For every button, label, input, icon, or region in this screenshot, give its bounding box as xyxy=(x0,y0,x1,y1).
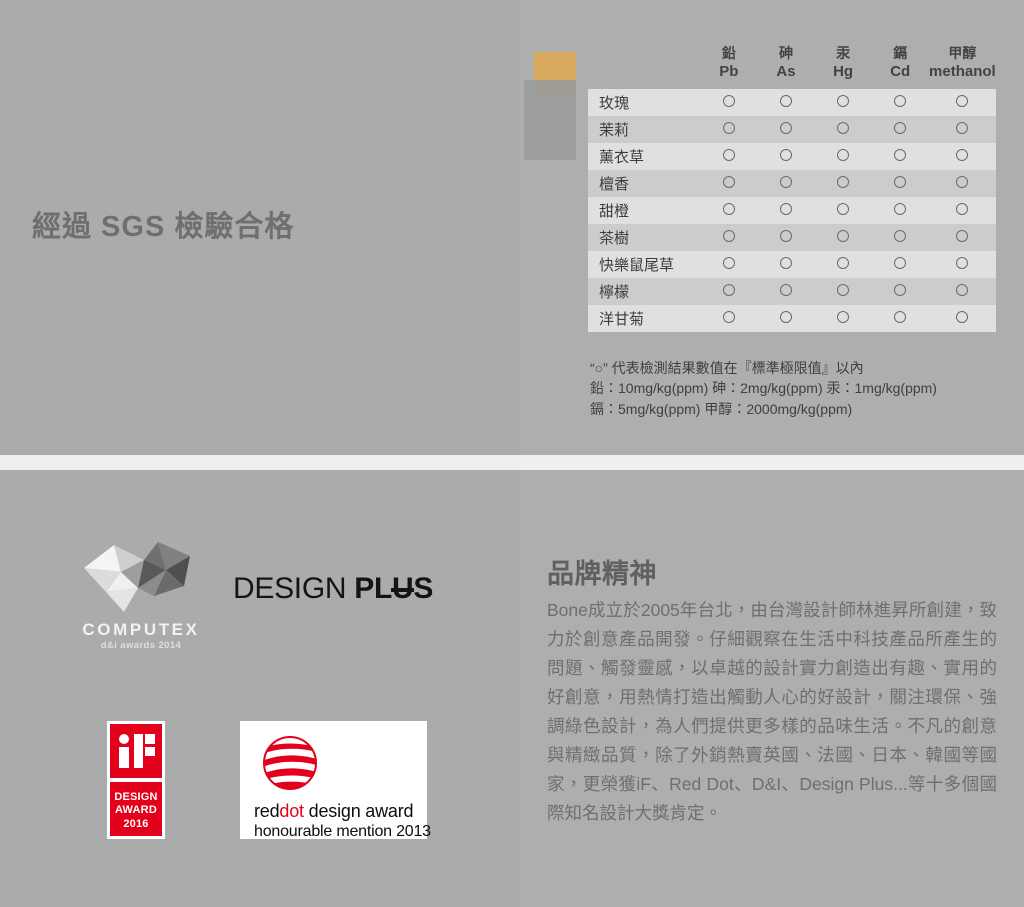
computex-subtitle: d&i awards 2014 xyxy=(66,640,216,651)
cell-pb xyxy=(700,224,757,251)
cell-hg xyxy=(815,89,872,116)
pass-circle-icon xyxy=(723,122,735,134)
if-f-mid-arm xyxy=(145,747,155,756)
column-header-hg-en: Hg xyxy=(815,63,872,82)
if-i-dot xyxy=(119,734,129,744)
cell-hg xyxy=(815,305,872,332)
if-monogram-icon xyxy=(119,734,155,768)
design-plus-design-word: DESIGN xyxy=(233,572,346,605)
table-row: 檸檬 xyxy=(588,278,996,305)
cell-as xyxy=(757,170,814,197)
cell-pb xyxy=(700,197,757,224)
column-header-hg-cn: 汞 xyxy=(815,45,872,63)
pass-circle-icon xyxy=(780,257,792,269)
cell-methanol xyxy=(929,278,996,305)
cell-as xyxy=(757,224,814,251)
cell-pb xyxy=(700,170,757,197)
table-row: 快樂鼠尾草 xyxy=(588,251,996,278)
column-header-methanol-en: methanol xyxy=(929,63,996,82)
pass-circle-icon xyxy=(723,284,735,296)
sgs-test-table: 鉛 Pb 砷 As 汞 Hg 鎘 Cd xyxy=(588,45,996,332)
computex-award-logo: COMPUTEX d&i awards 2014 xyxy=(66,530,216,650)
sgs-note: “○” 代表檢測結果數值在『標準極限值』以內 鉛：10mg/kg(ppm) 砷：… xyxy=(590,358,1010,419)
pass-circle-icon xyxy=(780,230,792,242)
pass-circle-icon xyxy=(837,311,849,323)
pass-circle-icon xyxy=(723,149,735,161)
brand-spirit-title: 品牌精神 xyxy=(547,552,657,591)
pass-circle-icon xyxy=(780,311,792,323)
column-header-pb-cn: 鉛 xyxy=(700,45,757,63)
table-row: 檀香 xyxy=(588,170,996,197)
cell-hg xyxy=(815,278,872,305)
cell-as xyxy=(757,278,814,305)
cell-pb xyxy=(700,251,757,278)
cell-as xyxy=(757,305,814,332)
table-row: 玫瑰 xyxy=(588,89,996,116)
table-header-row: 鉛 Pb 砷 As 汞 Hg 鎘 Cd xyxy=(588,45,996,89)
if-mark-panel xyxy=(110,724,162,778)
cell-as xyxy=(757,116,814,143)
row-label: 快樂鼠尾草 xyxy=(588,251,700,278)
reddot-sphere-icon xyxy=(262,735,318,791)
if-i-stem xyxy=(119,747,129,768)
cell-hg xyxy=(815,143,872,170)
pass-circle-icon xyxy=(956,311,968,323)
if-caption-line2: AWARD xyxy=(110,804,162,817)
cell-pb xyxy=(700,278,757,305)
pass-circle-icon xyxy=(837,203,849,215)
pass-circle-icon xyxy=(780,176,792,188)
computex-wordmark: COMPUTEX xyxy=(66,620,216,640)
column-header-cd: 鎘 Cd xyxy=(872,45,929,89)
if-f-stem xyxy=(134,734,143,768)
cell-pb xyxy=(700,143,757,170)
pass-circle-icon xyxy=(894,311,906,323)
pass-circle-icon xyxy=(780,122,792,134)
pass-circle-icon xyxy=(723,230,735,242)
pass-circle-icon xyxy=(780,149,792,161)
pass-circle-icon xyxy=(723,203,735,215)
pass-circle-icon xyxy=(837,176,849,188)
pass-circle-icon xyxy=(956,95,968,107)
pass-circle-icon xyxy=(894,176,906,188)
column-header-as-cn: 砷 xyxy=(757,45,814,63)
column-header-name xyxy=(588,45,700,89)
pass-circle-icon xyxy=(723,176,735,188)
cell-methanol xyxy=(929,89,996,116)
table-row: 茶樹 xyxy=(588,224,996,251)
reddot-red-word: red xyxy=(254,801,279,821)
cell-as xyxy=(757,197,814,224)
cell-cd xyxy=(872,143,929,170)
pass-circle-icon xyxy=(894,122,906,134)
pass-circle-icon xyxy=(956,284,968,296)
column-header-cd-cn: 鎘 xyxy=(872,45,929,63)
product-body xyxy=(524,80,576,160)
column-header-as: 砷 As xyxy=(757,45,814,89)
pass-circle-icon xyxy=(780,203,792,215)
reddot-design-award-logo: reddot design award honourable mention 2… xyxy=(240,721,427,839)
pass-circle-icon xyxy=(894,257,906,269)
pass-circle-icon xyxy=(723,311,735,323)
reddot-wordmark: reddot design award xyxy=(254,801,424,822)
table-body: 玫瑰 茉莉 xyxy=(588,89,996,332)
cell-as xyxy=(757,143,814,170)
table-row: 茉莉 xyxy=(588,116,996,143)
if-design-award-logo: DESIGN AWARD 2016 xyxy=(107,721,165,839)
pass-circle-icon xyxy=(837,95,849,107)
cell-pb xyxy=(700,89,757,116)
pass-circle-icon xyxy=(894,203,906,215)
reddot-caption: reddot design award honourable mention 2… xyxy=(254,801,424,841)
cell-hg xyxy=(815,224,872,251)
row-label: 檸檬 xyxy=(588,278,700,305)
cell-cd xyxy=(872,170,929,197)
pass-circle-icon xyxy=(956,176,968,188)
pass-circle-icon xyxy=(723,95,735,107)
cell-cd xyxy=(872,89,929,116)
cell-methanol xyxy=(929,251,996,278)
pass-circle-icon xyxy=(894,230,906,242)
cell-cd xyxy=(872,251,929,278)
row-label: 洋甘菊 xyxy=(588,305,700,332)
design-plus-pl: PL xyxy=(354,572,392,605)
pass-circle-icon xyxy=(837,149,849,161)
column-header-as-en: As xyxy=(757,63,814,82)
pass-circle-icon xyxy=(723,257,735,269)
pass-circle-icon xyxy=(956,149,968,161)
column-header-methanol-cn: 甲醇 xyxy=(929,45,996,63)
row-label: 茶樹 xyxy=(588,224,700,251)
cell-cd xyxy=(872,197,929,224)
cell-hg xyxy=(815,170,872,197)
pass-circle-icon xyxy=(894,284,906,296)
cell-methanol xyxy=(929,305,996,332)
cell-methanol xyxy=(929,197,996,224)
design-plus-logo: DESIGN PLUS xyxy=(233,572,433,606)
pass-circle-icon xyxy=(780,284,792,296)
column-header-methanol: 甲醇 methanol xyxy=(929,45,996,89)
sgs-note-line3: 鎘：5mg/kg(ppm) 甲醇：2000mg/kg(ppm) xyxy=(590,399,1010,419)
pass-circle-icon xyxy=(956,257,968,269)
cell-methanol xyxy=(929,170,996,197)
pass-circle-icon xyxy=(956,203,968,215)
pass-circle-icon xyxy=(780,95,792,107)
product-image xyxy=(524,52,576,160)
pass-circle-icon xyxy=(837,122,849,134)
if-caption-line1: DESIGN xyxy=(110,791,162,804)
cell-as xyxy=(757,89,814,116)
pass-circle-icon xyxy=(894,149,906,161)
row-label: 甜橙 xyxy=(588,197,700,224)
reddot-mention-line: honourable mention 2013 xyxy=(254,823,424,841)
brand-spirit-body: Bone成立於2005年台北，由台灣設計師林進昇所創建，致力於創意產品開發。仔細… xyxy=(547,596,997,828)
pass-circle-icon xyxy=(956,122,968,134)
row-label: 玫瑰 xyxy=(588,89,700,116)
cell-methanol xyxy=(929,224,996,251)
pass-circle-icon xyxy=(894,95,906,107)
sgs-heading: 經過 SGS 檢驗合格 xyxy=(32,203,294,245)
cell-cd xyxy=(872,278,929,305)
design-plus-u-crossed: U xyxy=(392,572,413,606)
if-f-top-arm xyxy=(145,734,155,744)
sgs-section: 經過 SGS 檢驗合格 鉛 Pb xyxy=(0,0,1024,455)
reddot-dot-word: dot xyxy=(279,801,303,821)
table-row: 甜橙 xyxy=(588,197,996,224)
column-header-cd-en: Cd xyxy=(872,63,929,82)
cell-hg xyxy=(815,116,872,143)
pass-circle-icon xyxy=(956,230,968,242)
row-label: 薰衣草 xyxy=(588,143,700,170)
pass-circle-icon xyxy=(837,230,849,242)
cell-pb xyxy=(700,116,757,143)
column-header-pb-en: Pb xyxy=(700,63,757,82)
computex-mark-icon xyxy=(66,530,216,620)
column-header-hg: 汞 Hg xyxy=(815,45,872,89)
cell-pb xyxy=(700,305,757,332)
cell-cd xyxy=(872,224,929,251)
if-award-caption: DESIGN AWARD 2016 xyxy=(110,782,162,836)
section-divider xyxy=(0,455,1024,470)
cell-cd xyxy=(872,116,929,143)
cell-cd xyxy=(872,305,929,332)
row-label: 茉莉 xyxy=(588,116,700,143)
sgs-note-line2: 鉛：10mg/kg(ppm) 砷：2mg/kg(ppm) 汞：1mg/kg(pp… xyxy=(590,378,1010,398)
cell-hg xyxy=(815,197,872,224)
pass-circle-icon xyxy=(837,284,849,296)
table-row: 薰衣草 xyxy=(588,143,996,170)
reddot-design-award-word: design award xyxy=(304,801,413,821)
design-plus-s: S xyxy=(413,572,433,605)
page-root: 經過 SGS 檢驗合格 鉛 Pb xyxy=(0,0,1024,907)
sgs-note-line1: “○” 代表檢測結果數值在『標準極限值』以內 xyxy=(590,358,1010,378)
cell-methanol xyxy=(929,116,996,143)
row-label: 檀香 xyxy=(588,170,700,197)
cell-as xyxy=(757,251,814,278)
if-caption-line3: 2016 xyxy=(110,818,162,831)
pass-circle-icon xyxy=(837,257,849,269)
table-row: 洋甘菊 xyxy=(588,305,996,332)
cell-methanol xyxy=(929,143,996,170)
column-header-pb: 鉛 Pb xyxy=(700,45,757,89)
cell-hg xyxy=(815,251,872,278)
